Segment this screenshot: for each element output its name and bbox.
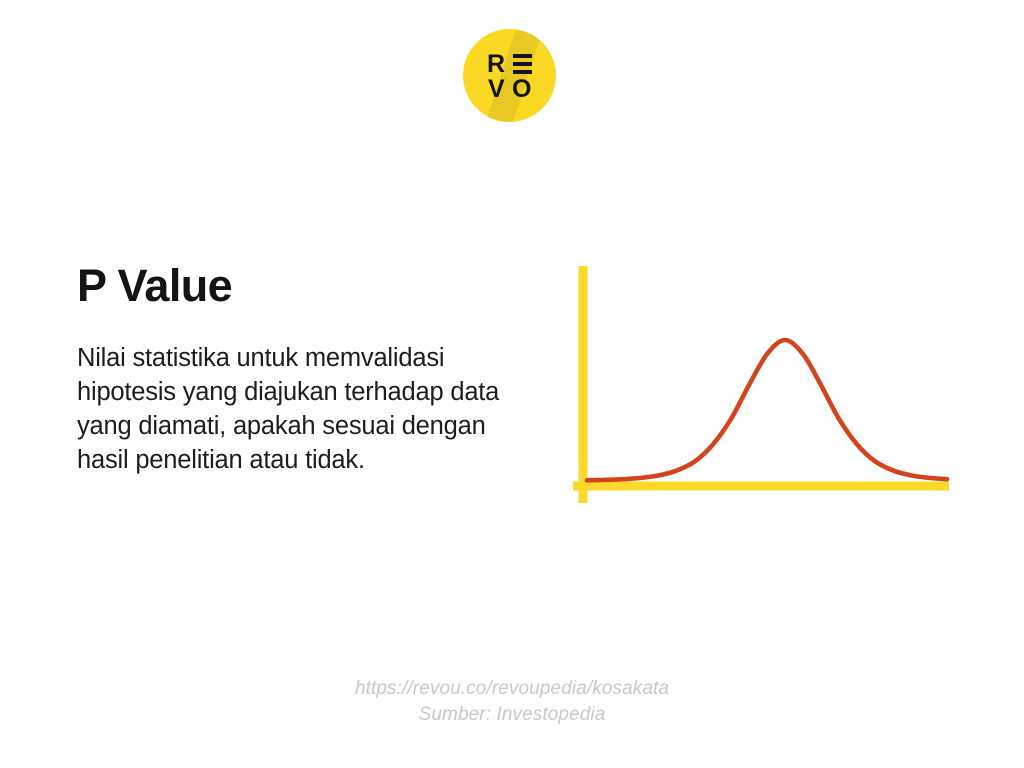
logo-wordmark: R V O [463, 29, 556, 122]
logo-letter-o: O [512, 77, 531, 102]
page-title: P Value [77, 262, 529, 309]
page-description: Nilai statistika untuk memvalidasi hipot… [77, 309, 517, 477]
logo-letter-v: V [488, 77, 505, 102]
logo-letter-e-icon [513, 54, 532, 74]
bell-curve-chart [565, 255, 965, 505]
distribution-curve [587, 340, 947, 480]
footer-source: Sumber: Investopedia [0, 702, 1024, 728]
logo-letter-r: R [487, 52, 505, 77]
revou-logo: R V O [463, 29, 556, 122]
footer-url: https://revou.co/revoupedia/kosakata [0, 676, 1024, 702]
chart-svg [565, 255, 965, 505]
footer: https://revou.co/revoupedia/kosakata Sum… [0, 676, 1024, 728]
content-block: P Value Nilai statistika untuk memvalida… [77, 262, 529, 477]
